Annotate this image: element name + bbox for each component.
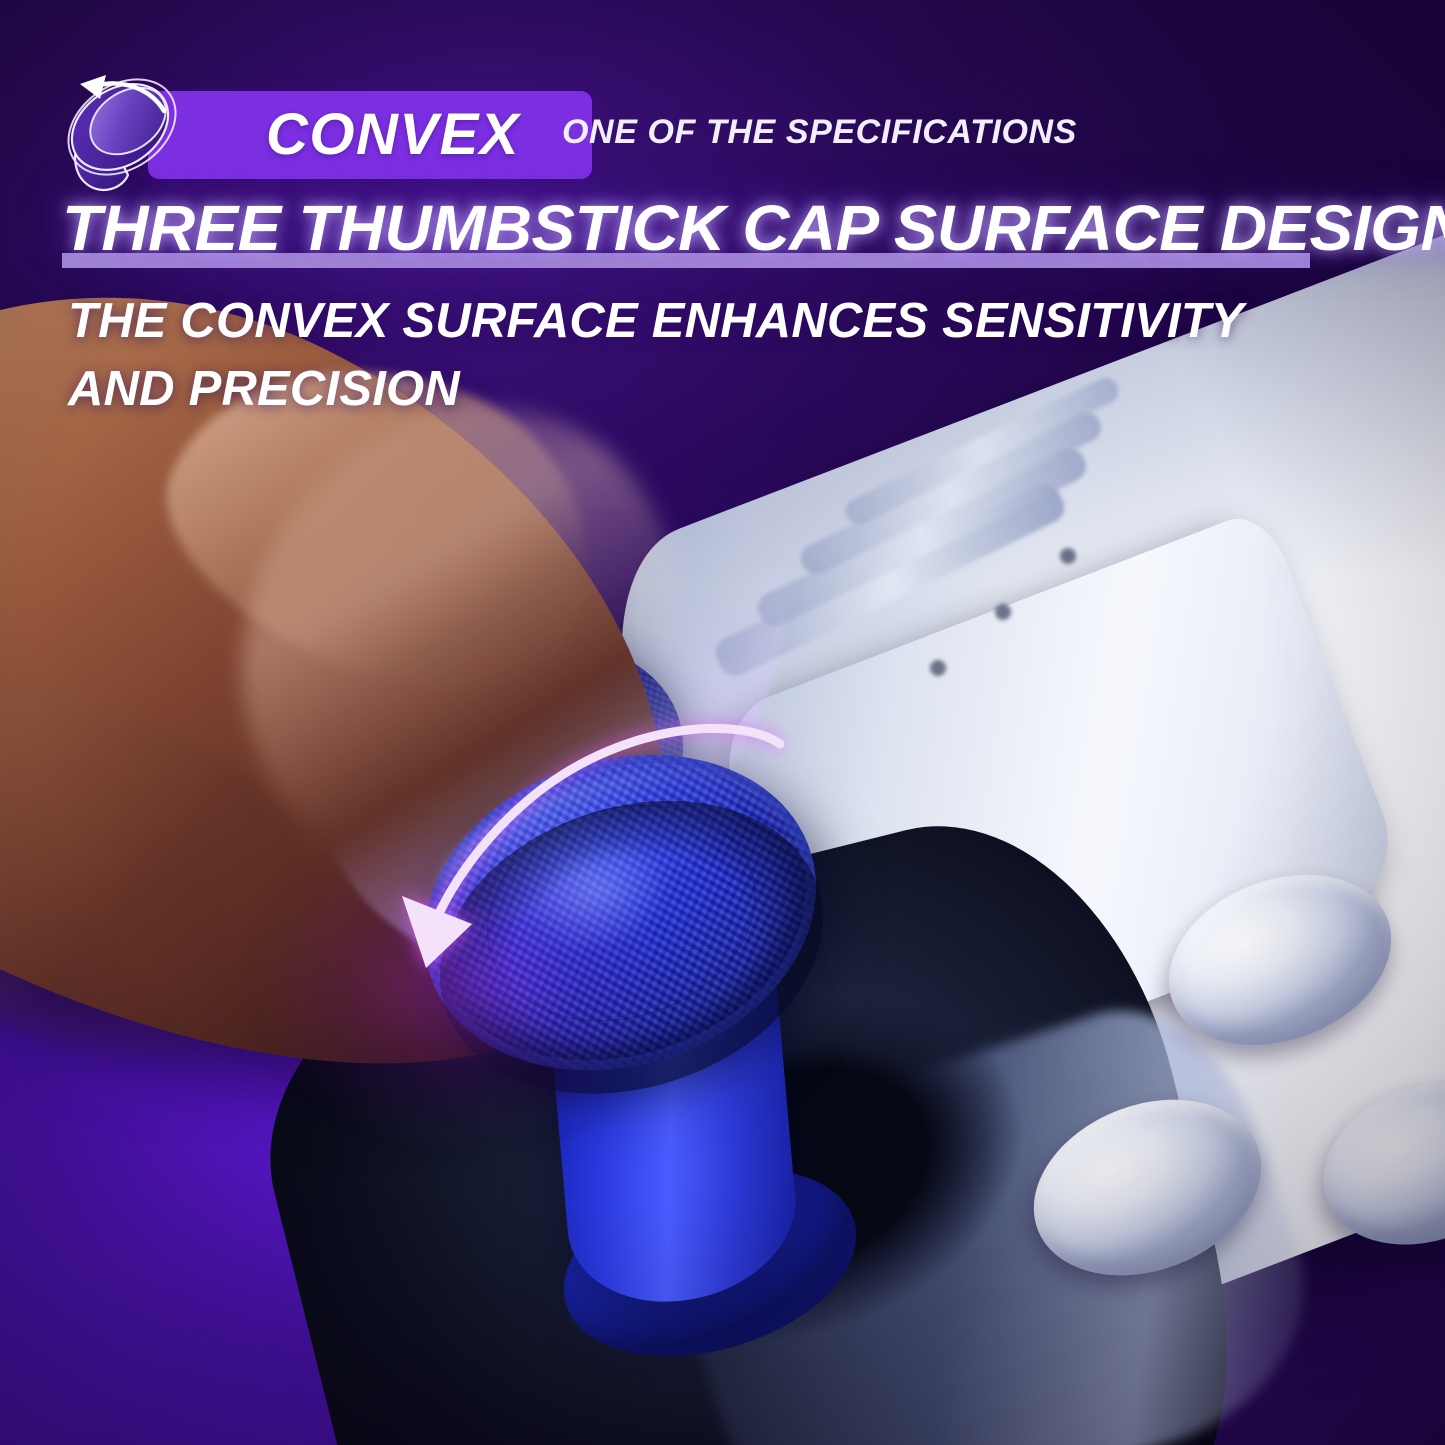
subheadline-line-2: AND PRECISION	[68, 356, 1268, 424]
spec-badge-pill: CONVEX	[148, 91, 592, 179]
product-marketing-banner: CONVEX	[0, 0, 1445, 1445]
text-overlay: CONVEX	[0, 0, 1445, 1445]
spec-badge-subtitle: ONE OF THE SPECIFICATIONS	[562, 113, 1077, 152]
headline-group: THREE THUMBSTICK CAP SURFACE DESIGNS	[62, 196, 1445, 260]
subheadline-line-1: THE CONVEX SURFACE ENHANCES SENSITIVITY	[68, 288, 1268, 356]
subheadline: THE CONVEX SURFACE ENHANCES SENSITIVITY …	[68, 288, 1268, 423]
page-title: THREE THUMBSTICK CAP SURFACE DESIGNS	[62, 196, 1445, 260]
spec-badge-label: CONVEX	[266, 106, 520, 164]
thumbstick-rotation-icon	[48, 55, 198, 205]
